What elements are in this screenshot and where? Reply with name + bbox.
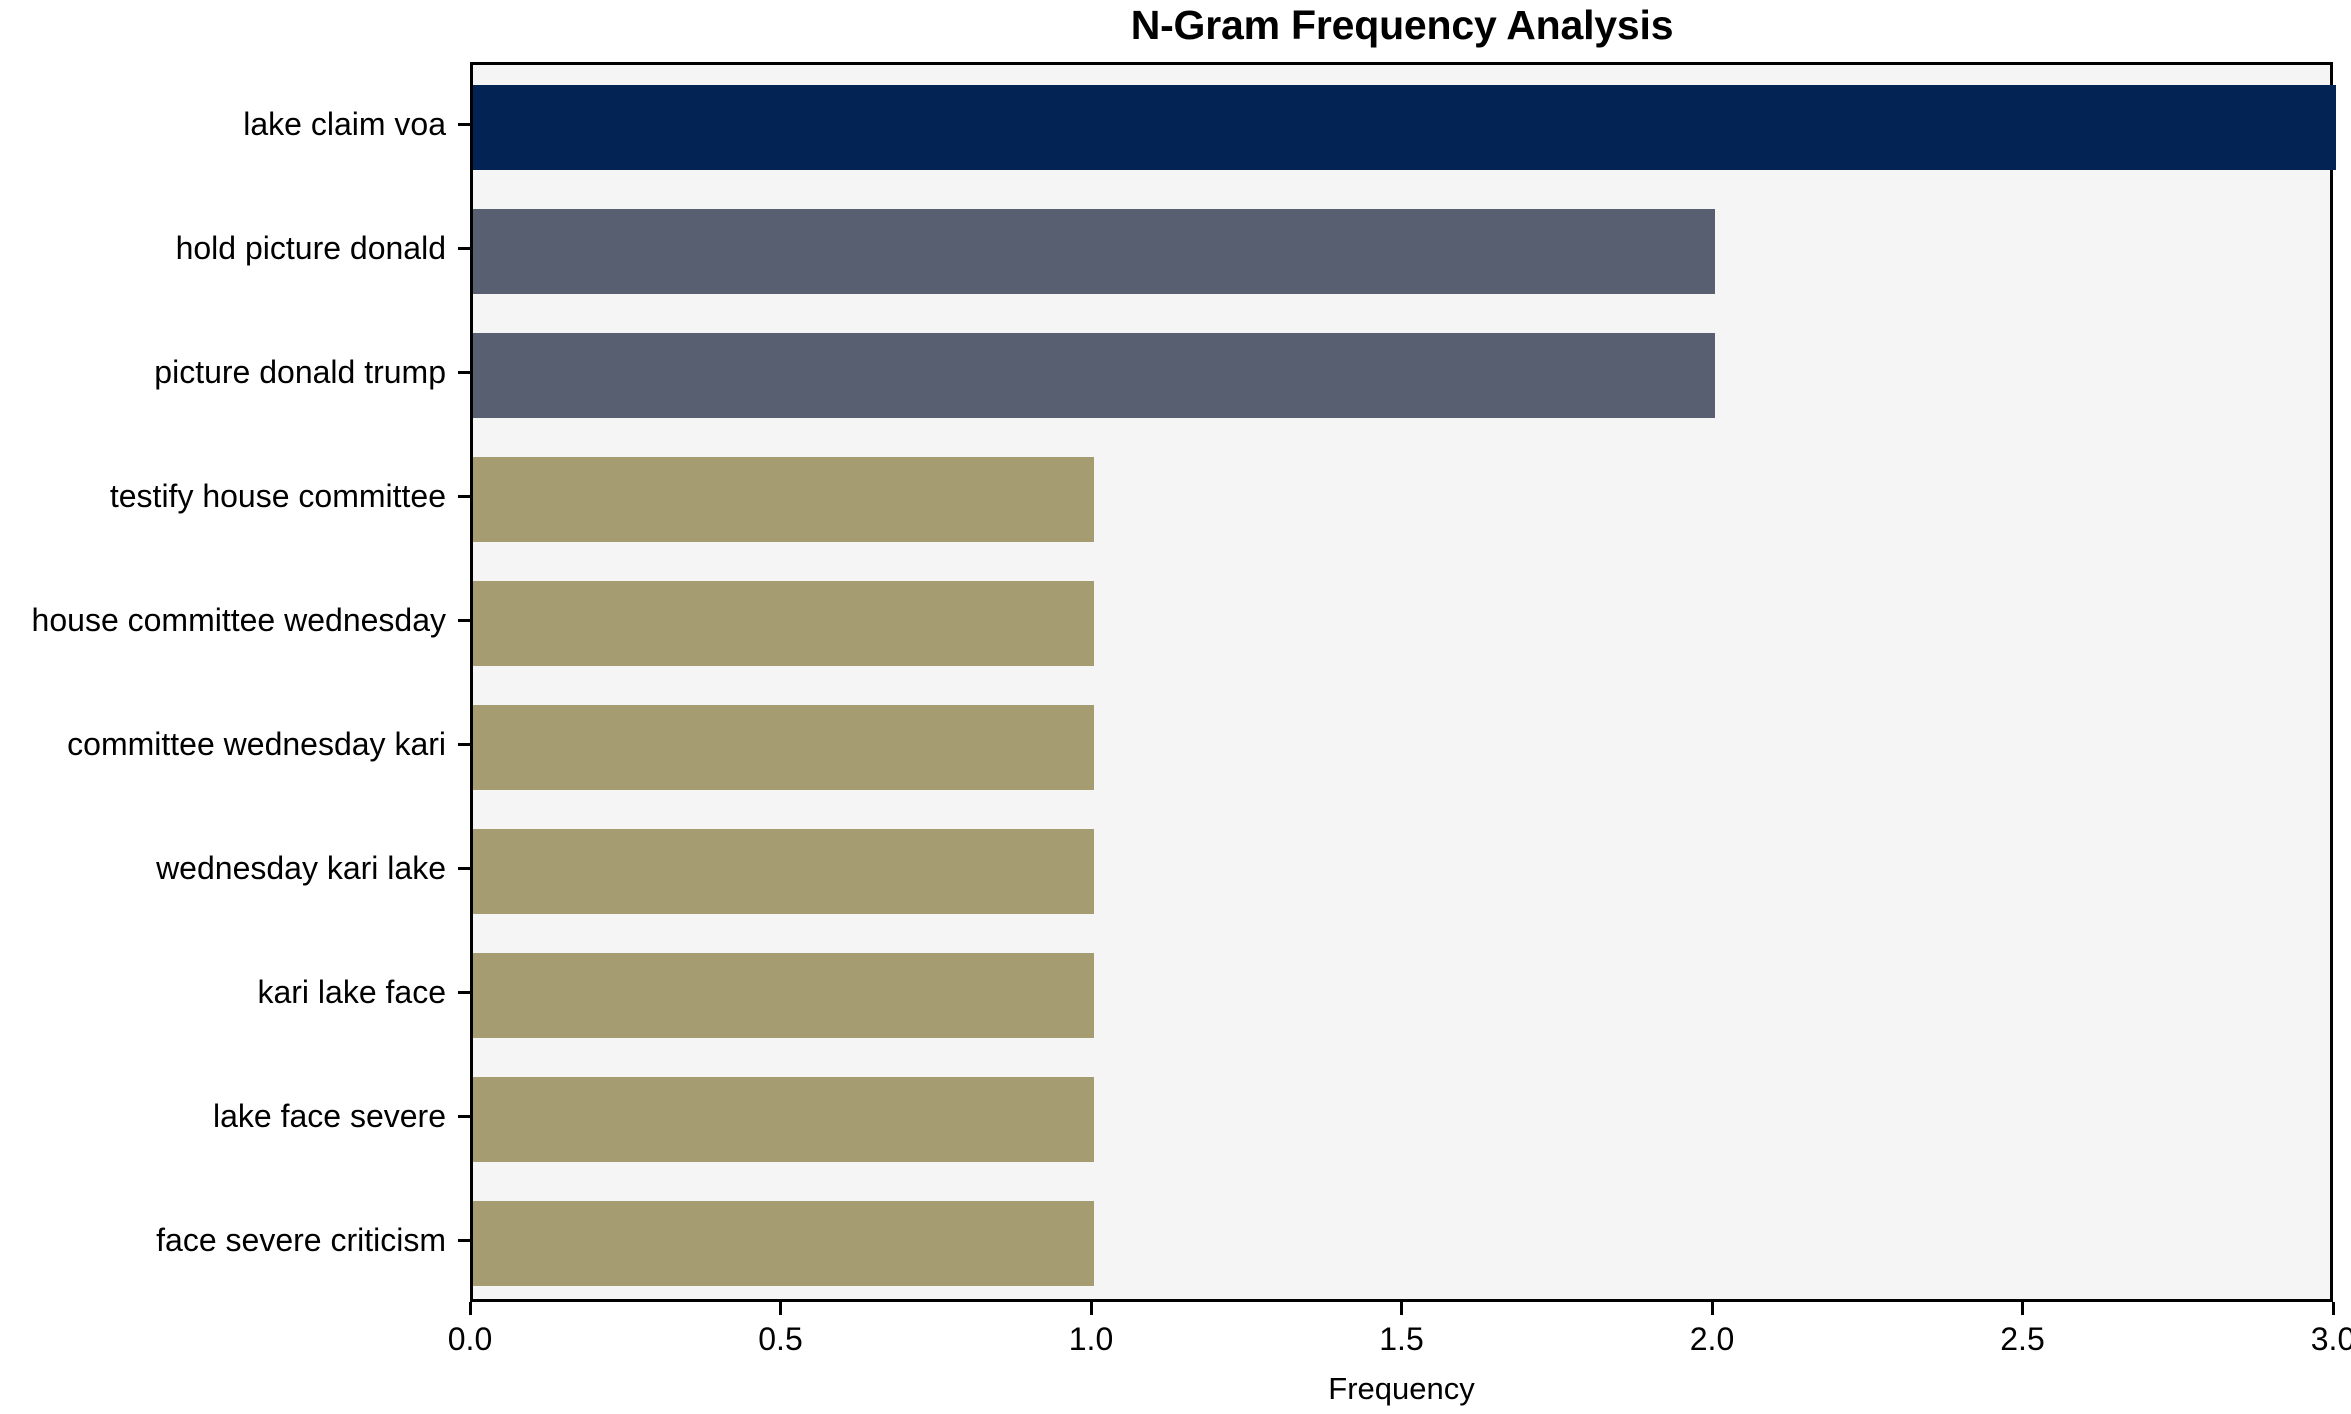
x-tick-mark xyxy=(469,1302,472,1315)
y-tick-mark xyxy=(458,1239,470,1242)
bar[interactable] xyxy=(473,953,1094,1038)
chart-title: N-Gram Frequency Analysis xyxy=(470,2,2334,48)
chart-figure: N-Gram Frequency Analysis lake claim voa… xyxy=(0,0,2351,1414)
x-tick-mark xyxy=(2021,1302,2024,1315)
bar[interactable] xyxy=(473,209,1715,294)
y-tick-label: lake claim voa xyxy=(243,104,446,144)
y-tick-label: face severe criticism xyxy=(156,1220,446,1260)
bar[interactable] xyxy=(473,85,2336,170)
y-axis: lake claim voahold picture donaldpicture… xyxy=(0,62,470,1302)
y-tick-mark xyxy=(458,619,470,622)
y-tick-mark xyxy=(458,123,470,126)
x-tick-label: 2.5 xyxy=(1963,1320,2083,1358)
bar[interactable] xyxy=(473,829,1094,914)
x-tick-label: 2.0 xyxy=(1652,1320,1772,1358)
x-tick-label: 0.5 xyxy=(721,1320,841,1358)
x-tick-label: 0.0 xyxy=(410,1320,530,1358)
y-tick-mark xyxy=(458,247,470,250)
y-tick-mark xyxy=(458,371,470,374)
y-tick-label: house committee wednesday xyxy=(32,600,446,640)
y-tick-mark xyxy=(458,743,470,746)
x-axis: Frequency 0.00.51.01.52.02.53.0 xyxy=(470,1302,2333,1414)
plot-area xyxy=(470,62,2333,1302)
x-tick-label: 1.5 xyxy=(1342,1320,1462,1358)
y-tick-mark xyxy=(458,1115,470,1118)
y-tick-label: hold picture donald xyxy=(176,228,446,268)
x-tick-mark xyxy=(779,1302,782,1315)
y-tick-label: testify house committee xyxy=(110,476,446,516)
x-axis-label: Frequency xyxy=(470,1370,2333,1408)
bar[interactable] xyxy=(473,1201,1094,1286)
y-tick-mark xyxy=(458,495,470,498)
bar[interactable] xyxy=(473,457,1094,542)
x-tick-mark xyxy=(1711,1302,1714,1315)
y-tick-label: picture donald trump xyxy=(154,352,446,392)
bars-layer xyxy=(473,65,2330,1299)
x-tick-label: 1.0 xyxy=(1031,1320,1151,1358)
y-tick-label: wednesday kari lake xyxy=(156,848,446,888)
x-tick-mark xyxy=(1400,1302,1403,1315)
y-tick-mark xyxy=(458,867,470,870)
y-tick-label: kari lake face xyxy=(257,972,446,1012)
y-tick-label: committee wednesday kari xyxy=(67,724,446,764)
x-tick-mark xyxy=(2332,1302,2335,1315)
y-tick-mark xyxy=(458,991,470,994)
bar[interactable] xyxy=(473,705,1094,790)
bar[interactable] xyxy=(473,333,1715,418)
bar[interactable] xyxy=(473,1077,1094,1162)
x-tick-mark xyxy=(1090,1302,1093,1315)
x-tick-label: 3.0 xyxy=(2273,1320,2351,1358)
y-tick-label: lake face severe xyxy=(213,1096,446,1136)
bar[interactable] xyxy=(473,581,1094,666)
